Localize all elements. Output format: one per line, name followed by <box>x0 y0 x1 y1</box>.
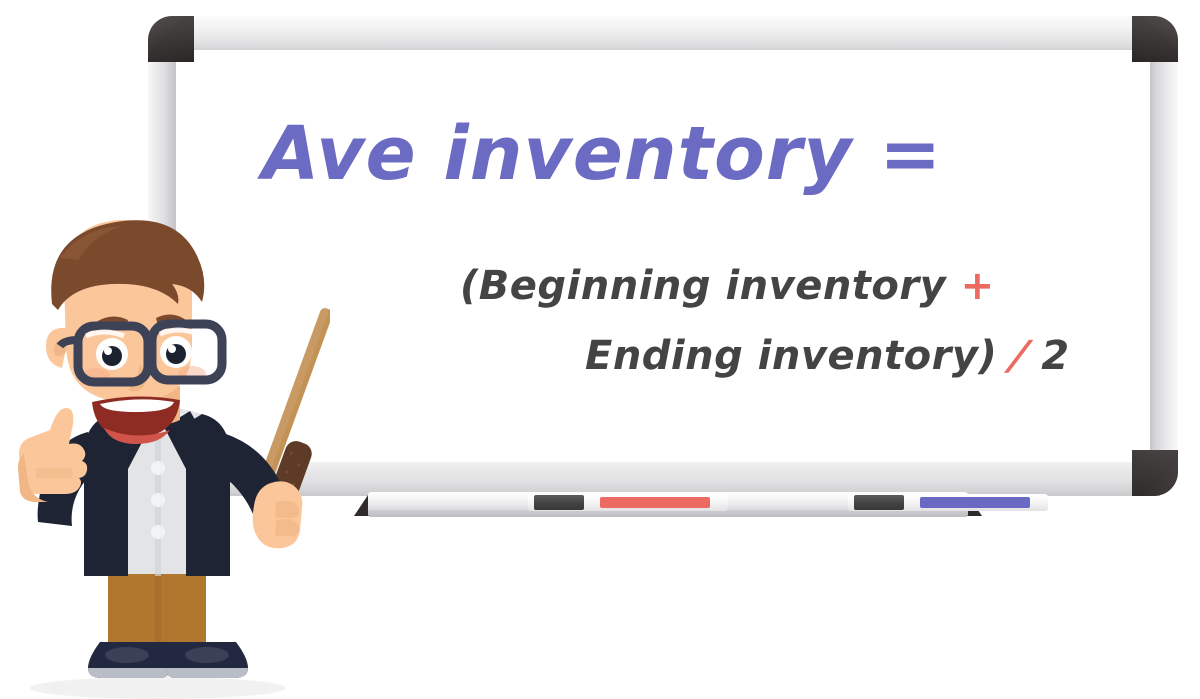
formula-line-2: (Beginning inventory + <box>460 266 995 306</box>
divisor-value: 2 <box>1041 333 1069 379</box>
character-shoes <box>88 642 248 678</box>
thumbs-up-hand <box>18 408 87 502</box>
character-head <box>46 220 222 444</box>
formula-line-3-text: Ending inventory) <box>585 333 997 379</box>
red-marker-band <box>600 497 710 508</box>
marker-tray <box>368 490 968 520</box>
pointer-hand <box>253 481 303 548</box>
plus-operator: + <box>961 263 995 309</box>
blue-marker-band <box>920 497 1030 508</box>
teacher-character <box>0 218 330 699</box>
illustration-stage: Ave inventory = (Beginning inventory + E… <box>0 0 1200 699</box>
red-marker-cap <box>534 495 584 510</box>
formula-line-3: Ending inventory) / 2 <box>585 336 1070 376</box>
character-shadow <box>30 677 286 699</box>
red-marker[interactable] <box>528 494 728 511</box>
tray-lip <box>368 510 968 517</box>
blue-marker[interactable] <box>848 494 1048 511</box>
blue-marker-cap <box>854 495 904 510</box>
formula-line-2-text: (Beginning inventory <box>460 263 946 309</box>
formula-heading: Ave inventory = <box>262 117 942 191</box>
